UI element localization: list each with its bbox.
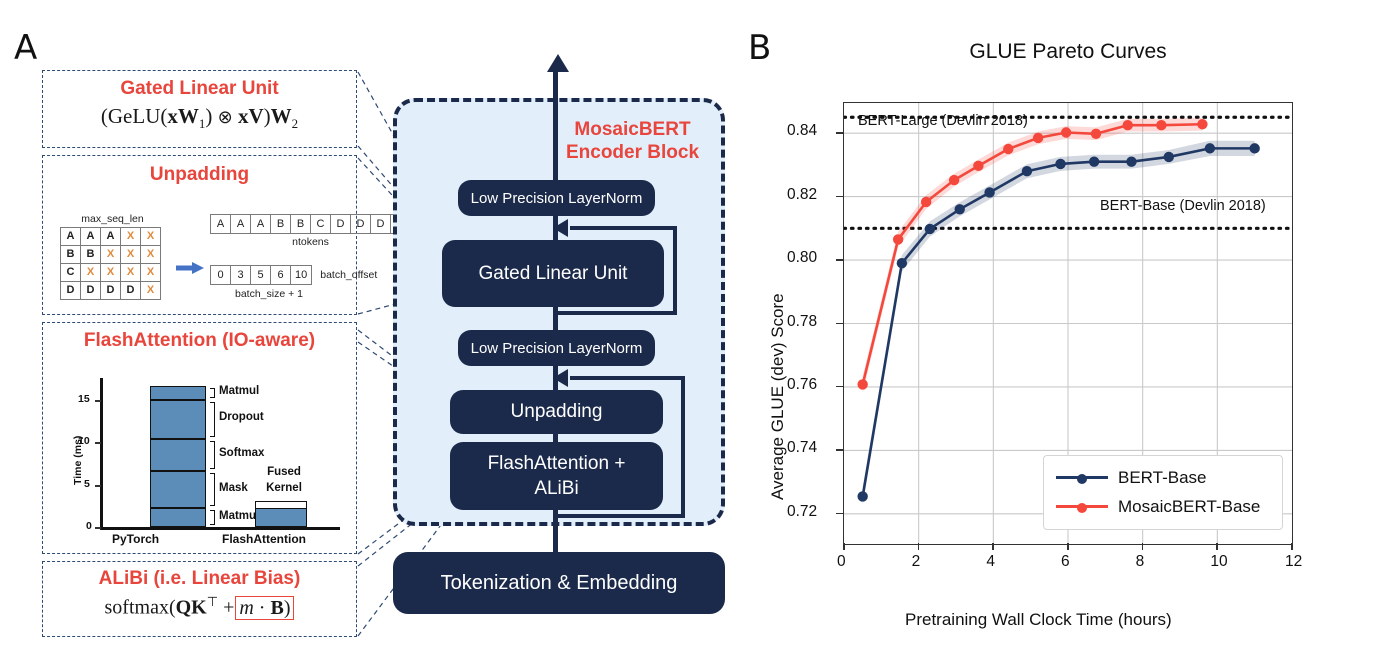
fa-segment-label: Mask [219,482,248,494]
ntokens-label: ntokens [210,236,411,248]
unpadding-cell: D [101,282,121,300]
feature-box-gated-linear-unit: Gated Linear Unit (GeLU(xW1) ⊗ xV)W2 [42,70,357,148]
encoder-block-tokenization-embedding[interactable]: Tokenization & Embedding [393,552,725,614]
chart-xtick-label: 8 [1136,553,1145,571]
chart-datapoint [955,204,965,214]
ntokens-cell: D [351,215,371,234]
fa-flash-brace [255,501,307,508]
glu-close: ) [264,104,271,128]
encoder-block-label-line2: ALiBi [534,476,578,501]
unpadding-cell: A [81,228,101,246]
legend-line-icon [1056,476,1108,479]
fa-segment [150,400,206,439]
unpadding-cell: X [141,264,161,282]
legend-marker-icon [1077,503,1087,513]
chart-ytick-label: 0.78 [787,313,817,331]
chart-xtick-mark [1216,543,1218,550]
unpadding-diagram: max_seq_len AAAXXBBXXXCXXXXDDDDX [60,213,165,300]
fa-segment [150,508,206,527]
fa-x-axis [100,527,340,530]
chart-ytick-label: 0.76 [787,376,817,394]
unpadding-cell: X [141,228,161,246]
ntokens-cell: B [271,215,291,234]
chart-xtick-mark [843,543,845,550]
fa-flash-label-line2: Kernel [258,480,310,496]
ntokens-cell: A [231,215,251,234]
chart-xtick-label: 4 [986,553,995,571]
chart-ylabel: Average GLUE (dev) Score [768,293,788,500]
encoder-block-layernorm-2[interactable]: Low Precision LayerNorm [458,330,655,366]
fa-flash-label: FusedKernel [258,464,310,496]
batch-offset-cell: 5 [251,266,271,285]
glu-gelu: GeLU [108,104,160,128]
chart-ytick-mark [836,259,843,261]
chart-ytick-mark [836,386,843,388]
chart-datapoint [1055,159,1065,169]
glu-open: ( [101,104,108,128]
chart-xtick-label: 6 [1061,553,1070,571]
chart-datapoint [973,161,983,171]
chart-ytick-label: 0.84 [787,122,817,140]
glu-otimes: ⊗ [218,107,233,127]
legend-item-bert-base[interactable]: BERT-Base [1056,463,1270,492]
chart-datapoint [1156,120,1166,130]
panel-b-letter: B [748,28,771,68]
flashattention-title: FlashAttention (IO-aware) [43,330,356,352]
chart-datapoint [893,234,903,244]
fa-ytick: 0 [86,520,92,532]
glu-xv: xV [238,104,264,128]
ntokens-block: AAABBCDDDD ntokens [210,214,411,248]
unpadding-cell: D [61,282,81,300]
unpadding-cell: X [121,264,141,282]
unpadding-cell: D [81,282,101,300]
fa-tickmark [95,485,101,487]
encoder-title-line2: Encoder Block [545,141,720,164]
fa-ytick: 15 [78,393,90,405]
alibi-plus: + [223,597,234,619]
unpadding-cell: X [141,282,161,300]
alibi-B: B [270,597,283,619]
chart-datapoint [1091,129,1101,139]
chart-datapoint [925,224,935,234]
chart-ytick-mark [836,449,843,451]
alibi-title: ALiBi (i.e. Linear Bias) [43,568,356,590]
chart-xtick-mark [918,543,920,550]
legend-item-mosaicbert-base[interactable]: MosaicBERT-Base [1056,492,1270,521]
fa-segment-brace [210,510,215,525]
unpadding-cell: X [101,264,121,282]
ntokens-cell: A [211,215,231,234]
encoder-output-arrow-icon [547,54,569,72]
chart-legend: BERT-Base MosaicBERT-Base [1043,455,1283,530]
alibi-formula: softmax(QK⊤ +m · B) [43,594,356,620]
chart-ytick-label: 0.80 [787,249,817,267]
fa-segment-brace [210,441,215,469]
chart-ytick-label: 0.82 [787,186,817,204]
figure-root: A Gated Linear Unit (GeLU(xW1) ⊗ xV)W2 U… [0,0,1376,662]
chart-datapoint [857,379,867,389]
unpadding-cell: A [61,228,81,246]
legend-line-icon [1056,505,1108,508]
fa-segment-brace [210,402,215,437]
encoder-block-layernorm-1[interactable]: Low Precision LayerNorm [458,180,655,216]
batch-offset-cell: 3 [231,266,251,285]
tokenization-label: Tokenization & Embedding [441,572,678,595]
residual-1-vertical [673,228,677,314]
glu-xw1: xW [167,104,199,128]
fa-flash-label-line1: Fused [258,464,310,480]
alibi-boxed-term: m · B) [235,596,294,620]
chart-datapoint [1249,143,1259,153]
unpadding-title: Unpadding [43,164,356,186]
encoder-block-label: Low Precision LayerNorm [471,190,643,207]
chart-datapoint [921,197,931,207]
chart-ytick-label: 0.74 [787,439,817,457]
unpadding-grid-row: BBXXX [61,246,161,264]
chart-datapoint [1003,144,1013,154]
fa-segment-brace [210,473,215,506]
alibi-transpose: ⊤ [207,594,218,609]
residual-2-top [570,376,685,380]
alibi-closeparen: ) [284,597,291,619]
chart-xtick-mark [1067,543,1069,550]
batch-offset-row: 035610 [210,265,312,285]
glu-paren3: ) [205,104,212,128]
fa-ytick: 5 [84,478,90,490]
chart-title: GLUE Pareto Curves [843,40,1293,64]
residual-2-arrow-icon [553,369,568,387]
alibi-softmax: softmax( [105,597,176,619]
encoder-block-label: Unpadding [511,401,603,423]
batch-size-label: batch_size + 1 [210,288,328,300]
fa-tickmark [95,400,101,402]
chart-datapoint [897,258,907,268]
alibi-dot: · [259,597,266,619]
legend-label: BERT-Base [1118,468,1207,488]
ntokens-cell: B [291,215,311,234]
batch-offset-cell: 10 [291,266,312,285]
unpadding-cell: C [61,264,81,282]
glu-sub2: 2 [292,116,299,131]
residual-1-arrow-icon [553,219,568,237]
encoder-block-unpadding[interactable]: Unpadding [450,390,663,434]
max-seq-len-label: max_seq_len [60,213,165,225]
chart-datapoint [1123,120,1133,130]
encoder-block-label-line1: FlashAttention + [488,451,626,476]
fa-tickmark [95,527,101,529]
unpadding-grid-row: DDDDX [61,282,161,300]
chart-ytick-mark [836,132,843,134]
residual-1-bottom [553,311,677,315]
chart-datapoint [1061,127,1071,137]
batch-offset-cell: 0 [211,266,231,285]
chart-ytick-mark [836,196,843,198]
fa-segment-brace [210,388,215,398]
legend-label: MosaicBERT-Base [1118,497,1260,517]
fa-flash-bar [255,508,307,527]
fa-xtick-pytorch: PyTorch [112,532,159,546]
chart-datapoint [949,175,959,185]
chart-datapoint [1126,156,1136,166]
alibi-qk: QK [176,597,207,619]
chart-datapoint [1197,119,1207,129]
chart-ytick-label: 0.72 [787,503,817,521]
encoder-block-gated-linear-unit[interactable]: Gated Linear Unit [442,240,664,307]
unpadding-grid: AAAXXBBXXXCXXXXDDDDX [60,227,161,300]
chart-xtick-label: 10 [1210,553,1227,571]
encoder-title-line1: MosaicBERT [545,118,720,141]
legend-marker-icon [1077,474,1087,484]
residual-2-vertical [681,378,685,517]
glu-title: Gated Linear Unit [43,78,356,100]
fa-segment [150,386,206,400]
batch-offset-label: batch_offset [320,269,377,281]
chart-ytick-mark [836,323,843,325]
residual-2-bottom [553,514,685,518]
panel-a-letter: A [14,28,37,68]
unpadding-cell: D [121,282,141,300]
fa-segment [150,471,206,508]
unpadding-cell: X [141,246,161,264]
unpadding-cell: X [81,264,101,282]
unpadding-arrow-icon [176,262,204,274]
chart-datapoint [1164,152,1174,162]
encoder-panel-title: MosaicBERT Encoder Block [545,118,720,164]
unpadding-cell: X [101,246,121,264]
fa-segment-label: Matmul [219,510,259,522]
unpadding-grid-row: CXXXX [61,264,161,282]
residual-1-top [570,226,677,230]
chart-xtick-label: 12 [1285,553,1302,571]
chart-xtick-mark [1291,543,1293,550]
fa-segment-label: Matmul [219,385,259,397]
feature-box-alibi: ALiBi (i.e. Linear Bias) softmax(QK⊤ +m … [42,561,357,637]
chart-ytick-mark [836,513,843,515]
chart-xtick-label: 2 [912,553,921,571]
chart-datapoint [1022,166,1032,176]
chart-xlabel: Pretraining Wall Clock Time (hours) [905,610,1172,630]
unpadding-cell: B [81,246,101,264]
chart-xtick-mark [992,543,994,550]
encoder-block-label: Gated Linear Unit [479,263,628,285]
chart-datapoint [984,187,994,197]
fa-segment-label: Softmax [219,447,264,459]
fa-xtick-flashattention: FlashAttention [222,532,306,546]
chart-datapoint [857,491,867,501]
chart-xtick-label: 0 [837,553,846,571]
unpadding-cell: X [121,228,141,246]
alibi-m: m [239,597,253,619]
unpadding-grid-row: AAAXX [61,228,161,246]
fa-tickmark [95,442,101,444]
encoder-block-label: Low Precision LayerNorm [471,340,643,357]
chart-datapoint [1089,156,1099,166]
chart-datapoint [1033,133,1043,143]
ntokens-cell: D [371,215,391,234]
batch-offset-cell: 6 [271,266,291,285]
fa-segment [150,439,206,471]
ntokens-cell: A [251,215,271,234]
unpadding-cell: A [101,228,121,246]
glu-w2: W [271,104,292,128]
glu-formula: (GeLU(xW1) ⊗ xV)W2 [43,104,356,132]
refline-label-bert-large: BERT-Large (Devlin 2018) [858,113,1028,129]
unpadding-cell: B [61,246,81,264]
fa-segment-label: Dropout [219,411,264,423]
refline-label-bert-base: BERT-Base (Devlin 2018) [1100,198,1266,214]
chart-datapoint [1205,143,1215,153]
chart-xtick-mark [1142,543,1144,550]
encoder-block-flashattention-alibi[interactable]: FlashAttention + ALiBi [450,442,663,510]
fa-ytick: 10 [78,435,90,447]
unpadding-cell: X [121,246,141,264]
ntokens-cell: D [331,215,351,234]
ntokens-cell: C [311,215,331,234]
ntokens-row: AAABBCDDDD [210,214,411,234]
batch-offset-block: 035610 batch_offset batch_size + 1 [210,265,377,300]
